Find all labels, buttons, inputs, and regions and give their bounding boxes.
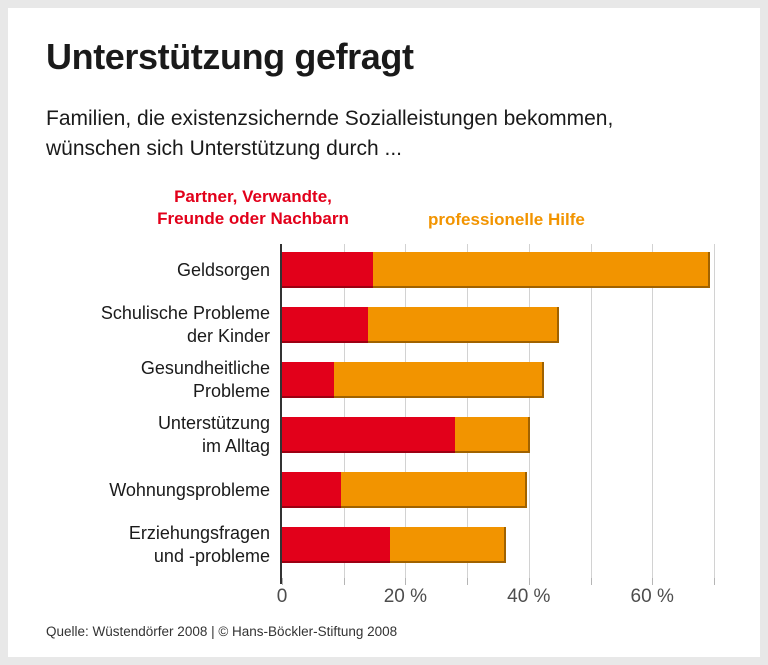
category-label: Schulische Problemeder Kinder bbox=[30, 302, 270, 348]
x-axis-tick-mark bbox=[652, 578, 653, 585]
category-label: Geldsorgen bbox=[30, 259, 270, 282]
chart-row: Geldsorgen bbox=[8, 252, 760, 288]
bar-segment-professional bbox=[341, 472, 527, 508]
category-label-line: im Alltag bbox=[202, 436, 270, 456]
bar-segment-professional bbox=[334, 362, 544, 398]
x-axis-tick-mark bbox=[714, 578, 715, 585]
x-axis-tick-mark bbox=[344, 578, 345, 585]
category-label: Unterstützungim Alltag bbox=[30, 412, 270, 458]
category-label-line: und -probleme bbox=[154, 546, 270, 566]
bar-segment-partner bbox=[282, 472, 341, 508]
chart-row: Erziehungsfragenund -probleme bbox=[8, 527, 760, 563]
category-label: Erziehungsfragenund -probleme bbox=[30, 522, 270, 568]
category-label-line: Geldsorgen bbox=[177, 260, 270, 280]
x-axis-tick-mark bbox=[467, 578, 468, 585]
x-axis-tick-label: 40 % bbox=[494, 586, 564, 608]
category-label-line: Probleme bbox=[193, 381, 270, 401]
x-axis-tick-mark bbox=[282, 578, 283, 585]
bar-segment-professional bbox=[455, 417, 530, 453]
chart-row: Schulische Problemeder Kinder bbox=[8, 307, 760, 343]
x-axis-tick-label: 60 % bbox=[617, 586, 687, 608]
source-note: Quelle: Wüstendörfer 2008 | © Hans-Böckl… bbox=[46, 624, 397, 639]
bar-segment-professional bbox=[390, 527, 506, 563]
category-label: Wohnungsprobleme bbox=[30, 479, 270, 502]
x-axis-tick-mark bbox=[529, 578, 530, 585]
plot-area: GeldsorgenSchulische Problemeder KinderG… bbox=[8, 8, 760, 657]
bar-segment-partner bbox=[282, 417, 455, 453]
category-label-line: Unterstützung bbox=[158, 413, 270, 433]
category-label-line: Erziehungsfragen bbox=[129, 523, 270, 543]
x-axis-tick-label: 0 bbox=[247, 586, 317, 608]
category-label-line: Gesundheitliche bbox=[141, 358, 270, 378]
chart-row: GesundheitlicheProbleme bbox=[8, 362, 760, 398]
x-axis-tick-mark bbox=[405, 578, 406, 585]
x-axis-tick-label: 20 % bbox=[370, 586, 440, 608]
bar-segment-partner bbox=[282, 307, 368, 343]
bar-segment-partner bbox=[282, 362, 334, 398]
category-label: GesundheitlicheProbleme bbox=[30, 357, 270, 403]
category-label-line: der Kinder bbox=[187, 326, 270, 346]
bar-segment-professional bbox=[373, 252, 710, 288]
chart-row: Unterstützungim Alltag bbox=[8, 417, 760, 453]
chart-row: Wohnungsprobleme bbox=[8, 472, 760, 508]
bar-segment-professional bbox=[368, 307, 559, 343]
category-label-line: Wohnungsprobleme bbox=[109, 480, 270, 500]
bar-segment-partner bbox=[282, 252, 373, 288]
bar-segment-partner bbox=[282, 527, 390, 563]
chart-card: Unterstützung gefragt Familien, die exis… bbox=[8, 8, 760, 657]
category-label-line: Schulische Probleme bbox=[101, 303, 270, 323]
x-axis-tick-mark bbox=[591, 578, 592, 585]
